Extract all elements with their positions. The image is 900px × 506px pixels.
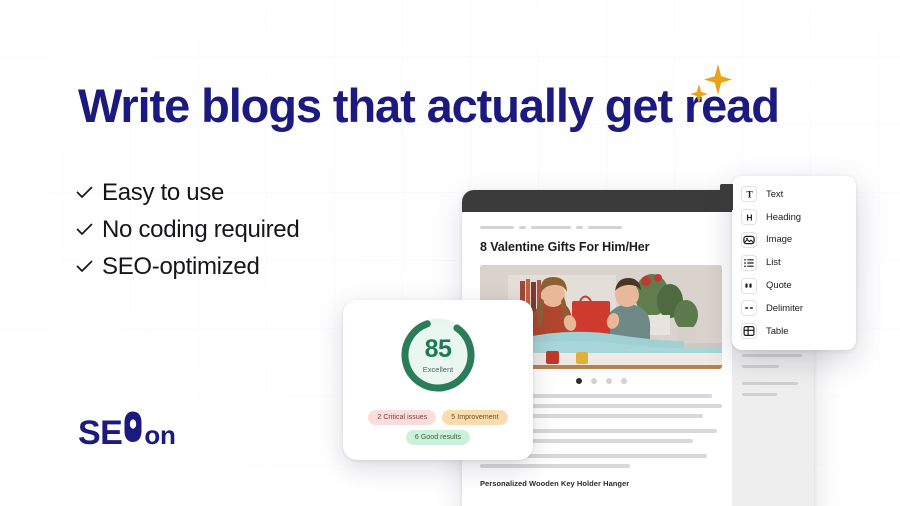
menu-item-image[interactable]: Image bbox=[738, 229, 850, 252]
check-icon bbox=[76, 260, 102, 273]
menu-handle[interactable] bbox=[720, 184, 733, 210]
status-badge-good[interactable]: 6 Good results bbox=[406, 430, 470, 445]
logo-seo-text: SE bbox=[78, 416, 122, 450]
list-icon bbox=[741, 255, 757, 271]
score-rating: Excellent bbox=[423, 365, 453, 374]
table-icon bbox=[741, 323, 757, 339]
logo-zero-mark bbox=[122, 410, 144, 444]
menu-item-label: Table bbox=[766, 326, 788, 337]
hero-banner: Write blogs that actually get read Easy … bbox=[0, 0, 900, 506]
block-type-menu[interactable]: T Text H Heading Image bbox=[732, 176, 856, 350]
feature-list: Easy to use No coding required SEO-optim… bbox=[76, 174, 299, 285]
score-badges: 2 Critical issues 5 Improvement 6 Good r… bbox=[343, 410, 533, 445]
check-icon bbox=[76, 186, 102, 199]
carousel-dot[interactable] bbox=[591, 378, 597, 384]
menu-item-label: Text bbox=[766, 189, 783, 200]
page-title: Write blogs that actually get read bbox=[78, 82, 779, 129]
menu-item-heading[interactable]: H Heading bbox=[738, 206, 850, 229]
status-badge-improvement[interactable]: 5 Improvement bbox=[442, 410, 507, 425]
status-badge-critical[interactable]: 2 Critical issues bbox=[368, 410, 436, 425]
menu-item-label: Image bbox=[766, 234, 792, 245]
heading-icon: H bbox=[741, 209, 757, 225]
check-icon bbox=[76, 223, 102, 236]
image-icon bbox=[741, 232, 757, 248]
carousel-dot[interactable] bbox=[606, 378, 612, 384]
menu-item-label: Heading bbox=[766, 212, 801, 223]
delimiter-icon bbox=[741, 300, 757, 316]
seo-score-card: 85 Excellent 2 Critical issues 5 Improve… bbox=[343, 300, 533, 460]
carousel-dot[interactable] bbox=[621, 378, 627, 384]
score-ring: 85 Excellent bbox=[397, 314, 479, 396]
svg-text:T: T bbox=[746, 190, 753, 199]
menu-item-table[interactable]: Table bbox=[738, 320, 850, 343]
menu-item-label: List bbox=[766, 257, 781, 268]
logo-on-text: on bbox=[144, 422, 175, 448]
menu-item-delimiter[interactable]: Delimiter bbox=[738, 297, 850, 320]
menu-item-label: Quote bbox=[766, 280, 792, 291]
sparkle-icon bbox=[680, 62, 732, 110]
list-item: No coding required bbox=[76, 211, 299, 248]
list-item-label: No coding required bbox=[102, 216, 299, 244]
logo[interactable]: SE on bbox=[78, 410, 176, 450]
quote-icon bbox=[741, 278, 757, 294]
menu-item-quote[interactable]: Quote bbox=[738, 274, 850, 297]
list-item-label: SEO-optimized bbox=[102, 253, 260, 281]
menu-item-list[interactable]: List bbox=[738, 251, 850, 274]
list-item: SEO-optimized bbox=[76, 248, 299, 285]
menu-item-text[interactable]: T Text bbox=[738, 183, 850, 206]
menu-item-label: Delimiter bbox=[766, 303, 803, 314]
list-item-label: Easy to use bbox=[102, 179, 224, 207]
carousel-dot[interactable] bbox=[576, 378, 582, 384]
score-value: 85 bbox=[425, 337, 452, 362]
svg-text:H: H bbox=[746, 212, 752, 222]
text-icon: T bbox=[741, 186, 757, 202]
list-item: Easy to use bbox=[76, 174, 299, 211]
